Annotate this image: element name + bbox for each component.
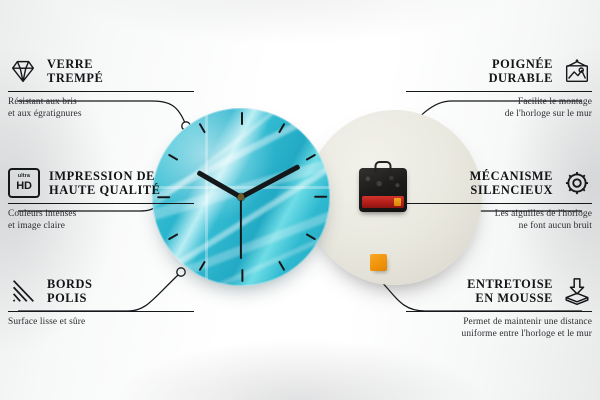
feature-poignee-durable: POIGNÉEDURABLE Facilite le montagede l'h… (406, 56, 592, 120)
feature-impression-haute-qualite: ultra HD IMPRESSION DEHAUTE QUALITÉ Coul… (8, 168, 194, 232)
feature-description: Résistant aux briset aux égratignures (8, 97, 194, 120)
feature-mecanisme-silencieux: MÉCANISMESILENCIEUX Les aiguilles de l'h… (406, 168, 592, 232)
feature-header: BORDSPOLIS (8, 276, 194, 306)
feature-description: Facilite le montagede l'horloge sur le m… (406, 97, 592, 120)
feature-divider (406, 203, 592, 204)
gear-icon (562, 168, 592, 198)
feature-header: VERRETREMPÉ (8, 56, 194, 86)
feature-description: Les aiguilles de l'horlogene font aucun … (406, 209, 592, 232)
mechanism-hook-icon (375, 161, 392, 172)
clock-center-cap (238, 194, 245, 201)
ultra-hd-icon-small-label: ultra (18, 174, 30, 179)
battery (362, 196, 404, 208)
clock-tick (278, 261, 285, 272)
clock-tick (241, 269, 243, 282)
feature-title: POIGNÉEDURABLE (406, 57, 553, 85)
feature-verre-trempe: VERRETREMPÉ Résistant aux briset aux égr… (8, 56, 194, 120)
feature-title: ENTRETOISEEN MOUSSE (406, 277, 553, 305)
feature-title: VERRETREMPÉ (47, 57, 194, 85)
clock-tick (306, 154, 317, 161)
polished-edges-icon (8, 276, 38, 306)
feature-header: ENTRETOISEEN MOUSSE (406, 276, 592, 306)
clock-tick (314, 196, 327, 198)
clock-tick (168, 154, 179, 161)
glass-reflection (205, 108, 208, 286)
feature-divider (406, 311, 592, 312)
feature-header: POIGNÉEDURABLE (406, 56, 592, 86)
feather-streak (177, 221, 330, 286)
feature-entretoise-en-mousse: ENTRETOISEEN MOUSSE Permet de maintenir … (406, 276, 592, 340)
feature-description: Surface lisse et sûre (8, 317, 194, 329)
mechanism-detail (364, 174, 402, 190)
clock-mechanism (359, 168, 407, 212)
feature-divider (406, 91, 592, 92)
feature-description: Permet de maintenir une distanceuniforme… (406, 317, 592, 340)
feature-divider (8, 311, 194, 312)
feature-bords-polis: BORDSPOLIS Surface lisse et sûre (8, 276, 194, 329)
foam-spacer-icon (562, 276, 592, 306)
diamond-icon (8, 56, 38, 86)
feature-header: ultra HD IMPRESSION DEHAUTE QUALITÉ (8, 168, 194, 198)
feature-title: BORDSPOLIS (47, 277, 194, 305)
hanging-frame-icon (562, 56, 592, 86)
foam-spacer (370, 254, 387, 271)
clock-tick (168, 233, 179, 240)
infographic-canvas: VERRETREMPÉ Résistant aux briset aux égr… (0, 0, 600, 400)
feature-title: IMPRESSION DEHAUTE QUALITÉ (49, 169, 194, 197)
feature-header: MÉCANISMESILENCIEUX (406, 168, 592, 198)
feature-title: MÉCANISMESILENCIEUX (406, 169, 553, 197)
clock-tick (306, 233, 317, 240)
feature-divider (8, 203, 194, 204)
ultra-hd-icon-big-label: HD (16, 181, 32, 192)
clock-second-hand (240, 197, 242, 259)
feature-description: Couleurs intenseset image claire (8, 209, 194, 232)
ultra-hd-icon: ultra HD (8, 168, 40, 198)
clock-tick (241, 112, 243, 125)
feature-divider (8, 91, 194, 92)
